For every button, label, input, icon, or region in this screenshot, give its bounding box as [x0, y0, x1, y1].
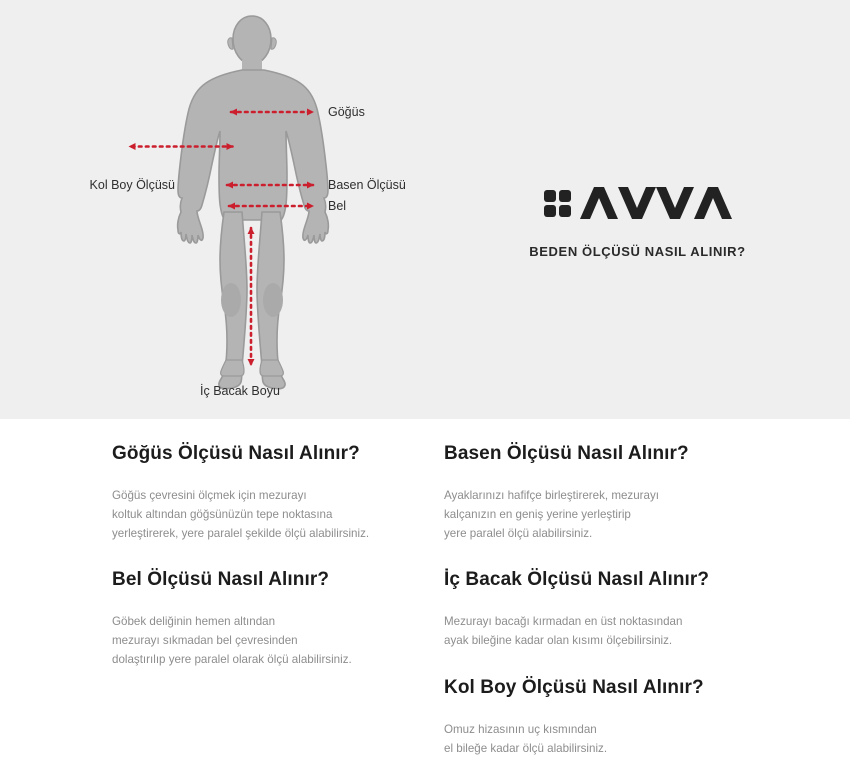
brand-block: BEDEN ÖLÇÜSÜ NASIL ALINIR?	[425, 0, 850, 419]
info-block-title: Göğüs Ölçüsü Nasıl Alınır?	[112, 443, 432, 465]
avva-wordmark	[580, 185, 732, 221]
info-block-body: Mezurayı bacağı kırmadan en üst noktasın…	[444, 613, 784, 651]
diagram-label-ic-bacak: İç Bacak Boyu	[200, 385, 280, 398]
info-block-ic-bacak-olcusu: İç Bacak Ölçüsü Nasıl Alınır? Mezurayı b…	[444, 543, 784, 651]
info-block-title: Bel Ölçüsü Nasıl Alınır?	[112, 569, 432, 591]
info-block-title: Kol Boy Ölçüsü Nasıl Alınır?	[444, 677, 784, 699]
info-block-title: İç Bacak Ölçüsü Nasıl Alınır?	[444, 569, 784, 591]
info-block-kol-boy-olcusu: Kol Boy Ölçüsü Nasıl Alınır? Omuz hizası…	[444, 651, 784, 759]
diagram-label-gogus: Göğüs	[328, 106, 365, 119]
info-block-bel-olcusu: Bel Ölçüsü Nasıl Alınır? Göbek deliğinin…	[112, 543, 432, 669]
avva-squares-icon	[544, 190, 571, 217]
info-block-basen-olcusu: Basen Ölçüsü Nasıl Alınır? Ayaklarınızı …	[444, 419, 784, 543]
body-silhouette	[178, 16, 329, 389]
info-block-body: Göğüs çevresini ölçmek için mezurayı kol…	[112, 487, 432, 543]
measurement-diagram: Kol Boy Ölçüsü Göğüs Basen Ölçüsü Bel İç…	[0, 0, 425, 419]
info-section: Göğüs Ölçüsü Nasıl Alınır? Göğüs çevresi…	[0, 419, 850, 775]
info-column-left: Göğüs Ölçüsü Nasıl Alınır? Göğüs çevresi…	[112, 419, 432, 670]
diagram-label-bel: Bel	[328, 200, 346, 213]
diagram-label-kol-boy: Kol Boy Ölçüsü	[60, 179, 175, 192]
info-block-body: Ayaklarınızı hafifçe birleştirerek, mezu…	[444, 487, 784, 543]
info-block-body: Göbek deliğinin hemen altından mezurayı …	[112, 613, 432, 669]
info-column-right: Basen Ölçüsü Nasıl Alınır? Ayaklarınızı …	[444, 419, 784, 758]
size-guide-page: Kol Boy Ölçüsü Göğüs Basen Ölçüsü Bel İç…	[0, 0, 850, 775]
info-block-body: Omuz hizasının uç kısmından el bileğe ka…	[444, 721, 784, 759]
diagram-label-basen: Basen Ölçüsü	[328, 179, 406, 192]
avva-logo	[425, 185, 850, 221]
body-diagram-svg	[0, 0, 425, 419]
hero-section: Kol Boy Ölçüsü Göğüs Basen Ölçüsü Bel İç…	[0, 0, 850, 419]
info-block-title: Basen Ölçüsü Nasıl Alınır?	[444, 443, 784, 465]
brand-subtitle: BEDEN ÖLÇÜSÜ NASIL ALINIR?	[425, 244, 850, 259]
info-block-gogus-olcusu: Göğüs Ölçüsü Nasıl Alınır? Göğüs çevresi…	[112, 419, 432, 543]
